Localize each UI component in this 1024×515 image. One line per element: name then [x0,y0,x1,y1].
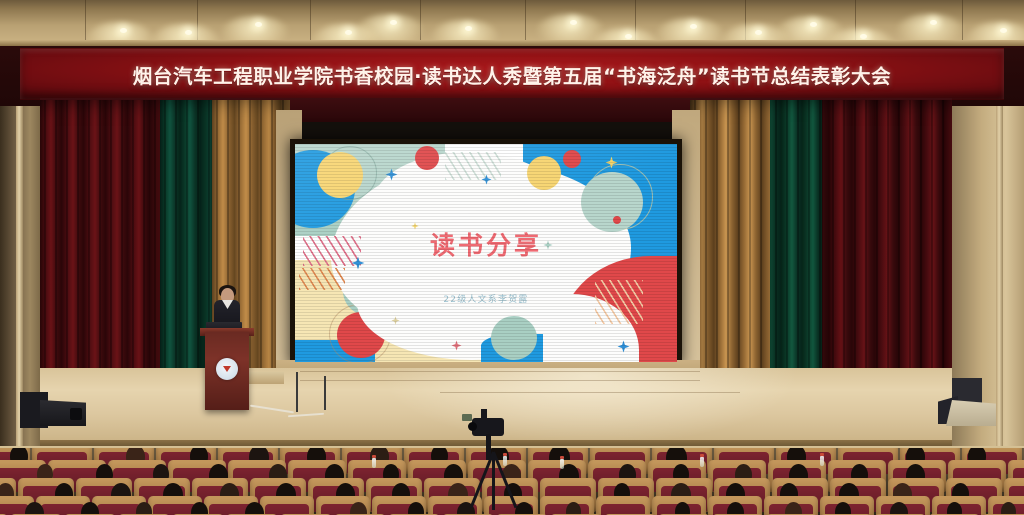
speaker-port [70,408,82,420]
water-bottle [560,459,564,469]
ceiling-downlight-icon [690,24,697,29]
star-icon [385,168,398,181]
ceiling-downlight-icon [930,20,937,25]
camera-monitor [462,414,472,421]
curtain-fold [797,100,799,406]
curtain-fold [716,100,718,392]
ceiling-downlight-icon [860,34,867,39]
ceiling-downlight-icon [625,34,632,39]
wall-pilaster-right [996,46,1003,466]
curtain-fold [775,100,777,406]
curtain-fold [843,100,845,412]
curtain-fold [931,100,933,412]
star-icon [451,340,462,351]
curtain-fold [99,100,101,412]
bottle-cap [820,453,824,456]
curtain-fold [887,100,889,412]
bottle-cap [372,455,376,458]
curtain-fold [77,100,79,412]
curtain-fold [66,100,68,412]
mic-stand [296,372,298,412]
outer-red-curtain-right [806,100,952,412]
curtain-fold [909,100,911,412]
gold-curtain-right [690,100,770,392]
ceiling-downlight-icon [570,20,577,25]
water-bottle [820,456,824,466]
water-bottle [372,458,376,468]
led-screen-frame: 读书分享 22级人文系李贺露 [290,139,682,367]
stage-floor-seam [300,371,700,372]
curtain-fold [727,100,729,392]
curtain-fold [738,100,740,392]
curtain-fold [942,100,944,412]
ceiling-downlight-icon [255,22,262,27]
curtain-fold [175,100,177,406]
curtain-fold [808,100,810,406]
curtain-fold [271,100,273,392]
curtain-fold [832,100,834,412]
curtain-fold [876,100,878,412]
curtain-fold [154,100,156,412]
curtain-fold [55,100,57,412]
ceiling-downlight-icon [120,28,127,33]
stage-floor-seam [300,380,700,381]
curtain-fold [865,100,867,412]
stage-monitor-speaker-right [946,400,996,426]
slide-subtitle: 22级人文系李贺露 [295,292,677,305]
curtain-fold [143,100,145,412]
star-icon [481,174,492,185]
mic-stand [324,376,326,410]
bottle-cap [560,456,564,459]
water-bottle [700,457,704,467]
curtain-fold [854,100,856,412]
curtain-fold [920,100,922,412]
star-icon [617,340,630,353]
curtain-fold [786,100,788,406]
curtain-fold [197,100,199,406]
star-icon [605,156,618,169]
ceiling-downlight-icon [390,20,397,25]
stage-floor-seam [440,392,740,393]
curtain-fold [819,100,821,406]
curtain-fold [898,100,900,412]
curtain-fold [44,100,46,412]
camera-lens-icon [468,422,477,431]
curtain-fold [132,100,134,412]
event-banner: 烟台汽车工程职业学院书香校园·读书达人秀暨第五届“书海泛舟”读书节总结表彰大会 [20,48,1004,100]
curtain-fold [749,100,751,392]
ceiling-downlight-icon [810,22,817,27]
curtain-fold [164,100,166,406]
ceiling-downlight-icon [185,30,192,35]
curtain-fold [88,100,90,412]
event-banner-text: 烟台汽车工程职业学院书香校园·读书达人秀暨第五届“书海泛舟”读书节总结表彰大会 [133,60,891,89]
camera-tripod [470,452,516,515]
ceiling-downlight-icon [465,26,472,31]
star-icon [391,316,400,325]
auditorium-photo: 烟台汽车工程职业学院书香校园·读书达人秀暨第五届“书海泛舟”读书节总结表彰大会 [0,0,1024,515]
curtain-fold [121,100,123,412]
outer-red-curtain-left [40,100,170,412]
led-screen: 读书分享 22级人文系李贺露 [295,144,677,362]
curtain-fold [760,100,762,392]
curtain-fold [705,100,707,392]
slide-title: 读书分享 [295,226,677,262]
ceiling-downlight-icon [345,30,352,35]
curtain-fold [186,100,188,406]
curtain-fold [249,100,251,392]
curtain-fold [110,100,112,412]
curtain-fold [260,100,262,392]
ceiling-downlight-icon [1000,28,1007,33]
bottle-cap [700,454,704,457]
ceiling-downlight-icon [755,30,762,35]
